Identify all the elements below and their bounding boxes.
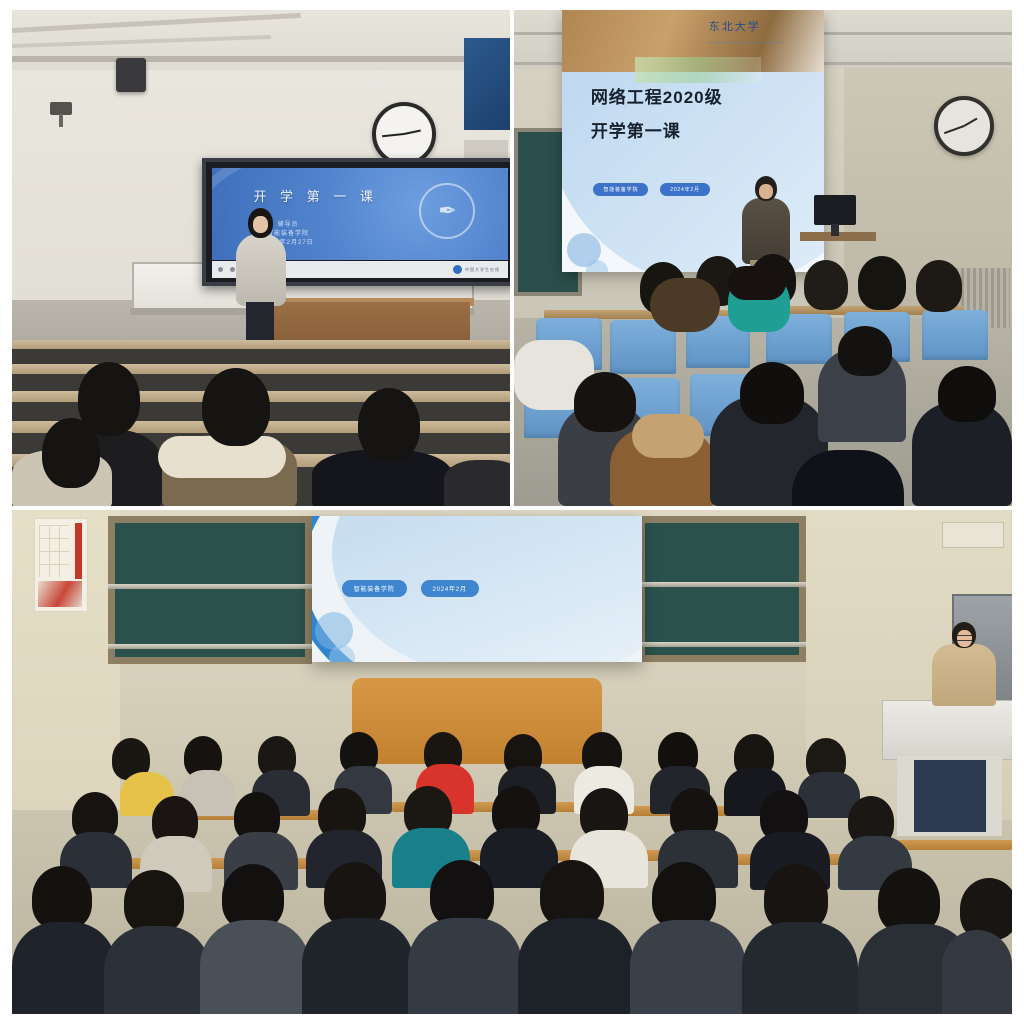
- slide-title: 开 学 第 一 课: [253, 186, 377, 205]
- audience-member: [12, 922, 116, 1014]
- audience-head: [916, 260, 962, 312]
- wooden-wall-panel: [352, 678, 602, 764]
- photo-collage: 开 学 第 一 课 辅导员 智能装备学院 2024年2月27日 ✒ 中国大学生在…: [0, 0, 1024, 1024]
- slide-heading-line-2: 开学第一课: [591, 117, 681, 142]
- speaker-glasses-icon: [957, 635, 972, 641]
- poster-grid: [39, 525, 69, 577]
- status-badge: 智能装备学院: [593, 183, 648, 196]
- presenter-legs: [246, 302, 274, 340]
- audience-head: [838, 326, 892, 376]
- clock-icon: [372, 102, 436, 166]
- poster-red-banner: [75, 523, 82, 579]
- slide-blob-decoration: [586, 260, 608, 272]
- audience-member: [444, 460, 510, 506]
- status-badge: 2024年2月: [660, 183, 710, 196]
- audience-member: [650, 278, 720, 332]
- status-badge: 2024年2月: [421, 580, 479, 597]
- slide-badges: 智能装备学院 2024年2月: [342, 580, 479, 597]
- camera-icon: [50, 102, 72, 115]
- side-display: [464, 38, 510, 130]
- monitor-icon: [814, 195, 856, 225]
- chalkboard-left: [108, 516, 312, 664]
- audience-head: [938, 366, 996, 422]
- podium: [882, 700, 1012, 760]
- podium-front-panel: [914, 760, 986, 832]
- audience-member: [408, 918, 522, 1014]
- audience-member: [942, 930, 1012, 1014]
- wall-poster: [34, 518, 88, 612]
- speaker-icon: [116, 58, 146, 92]
- panel-top-right: 东北大学 NORTHEASTERN UNIVERSITY 网络工程2020级 开…: [514, 10, 1012, 506]
- audience-head: [858, 256, 906, 310]
- slide-badges: 智能装备学院 2024年2月: [593, 183, 709, 196]
- panel-bottom-wide: 智能装备学院 2024年2月: [12, 510, 1012, 1014]
- chalk-rail: [638, 582, 806, 587]
- chalk-rail: [108, 644, 312, 649]
- audience-head: [202, 368, 270, 446]
- fur-collar: [632, 414, 704, 458]
- audience-head: [804, 260, 848, 310]
- panel-top-left: 开 学 第 一 课 辅导员 智能装备学院 2024年2月27日 ✒ 中国大学生在…: [12, 10, 510, 506]
- audience-head: [42, 418, 100, 488]
- presenter-face: [253, 216, 268, 233]
- taskbar-brand: 中国大学生在线: [453, 265, 500, 274]
- presenter-body: [236, 234, 286, 306]
- slide-heading-line-1: 网络工程2020级: [591, 83, 723, 108]
- taskbar-dot: [218, 267, 223, 272]
- audience-member: [792, 450, 904, 506]
- chalk-rail: [108, 584, 312, 589]
- brand-label: 中国大学生在线: [465, 267, 500, 273]
- air-vent: [942, 522, 1004, 548]
- audience-head: [124, 870, 184, 934]
- brand-mark-icon: [453, 265, 462, 274]
- audience-member: [200, 920, 310, 1014]
- bench-shadow: [12, 349, 510, 364]
- audience-head: [740, 362, 804, 424]
- audience-member: [104, 926, 210, 1014]
- chalk-rail: [638, 642, 806, 647]
- slide-blob-decoration: [329, 645, 355, 662]
- university-seal-icon: ✒: [419, 183, 475, 239]
- taskbar-dot: [230, 267, 235, 272]
- chalkboard-right: [638, 516, 806, 662]
- audience-member: [742, 922, 858, 1014]
- clock-icon: [934, 96, 994, 156]
- ceiling-beam: [12, 56, 510, 62]
- slide-green-band: [635, 57, 761, 83]
- speaker-body: [932, 644, 996, 706]
- poster-image: [38, 581, 82, 607]
- audience-head: [358, 388, 420, 462]
- university-name-en: NORTHEASTERN UNIVERSITY: [709, 41, 786, 45]
- audience-head: [574, 372, 636, 432]
- university-name: 东北大学: [709, 18, 761, 34]
- audience-head: [32, 866, 92, 930]
- audience-member: [302, 918, 414, 1014]
- lecture-seat: [922, 310, 988, 360]
- presenter-face: [759, 184, 773, 199]
- audience-member: [630, 920, 746, 1014]
- status-badge: 智能装备学院: [342, 580, 407, 597]
- audience-head: [728, 266, 786, 300]
- bench-row: [12, 340, 510, 349]
- student-desk: [892, 840, 1012, 850]
- projected-slide: 智能装备学院 2024年2月: [312, 516, 642, 662]
- audience-member: [518, 918, 634, 1014]
